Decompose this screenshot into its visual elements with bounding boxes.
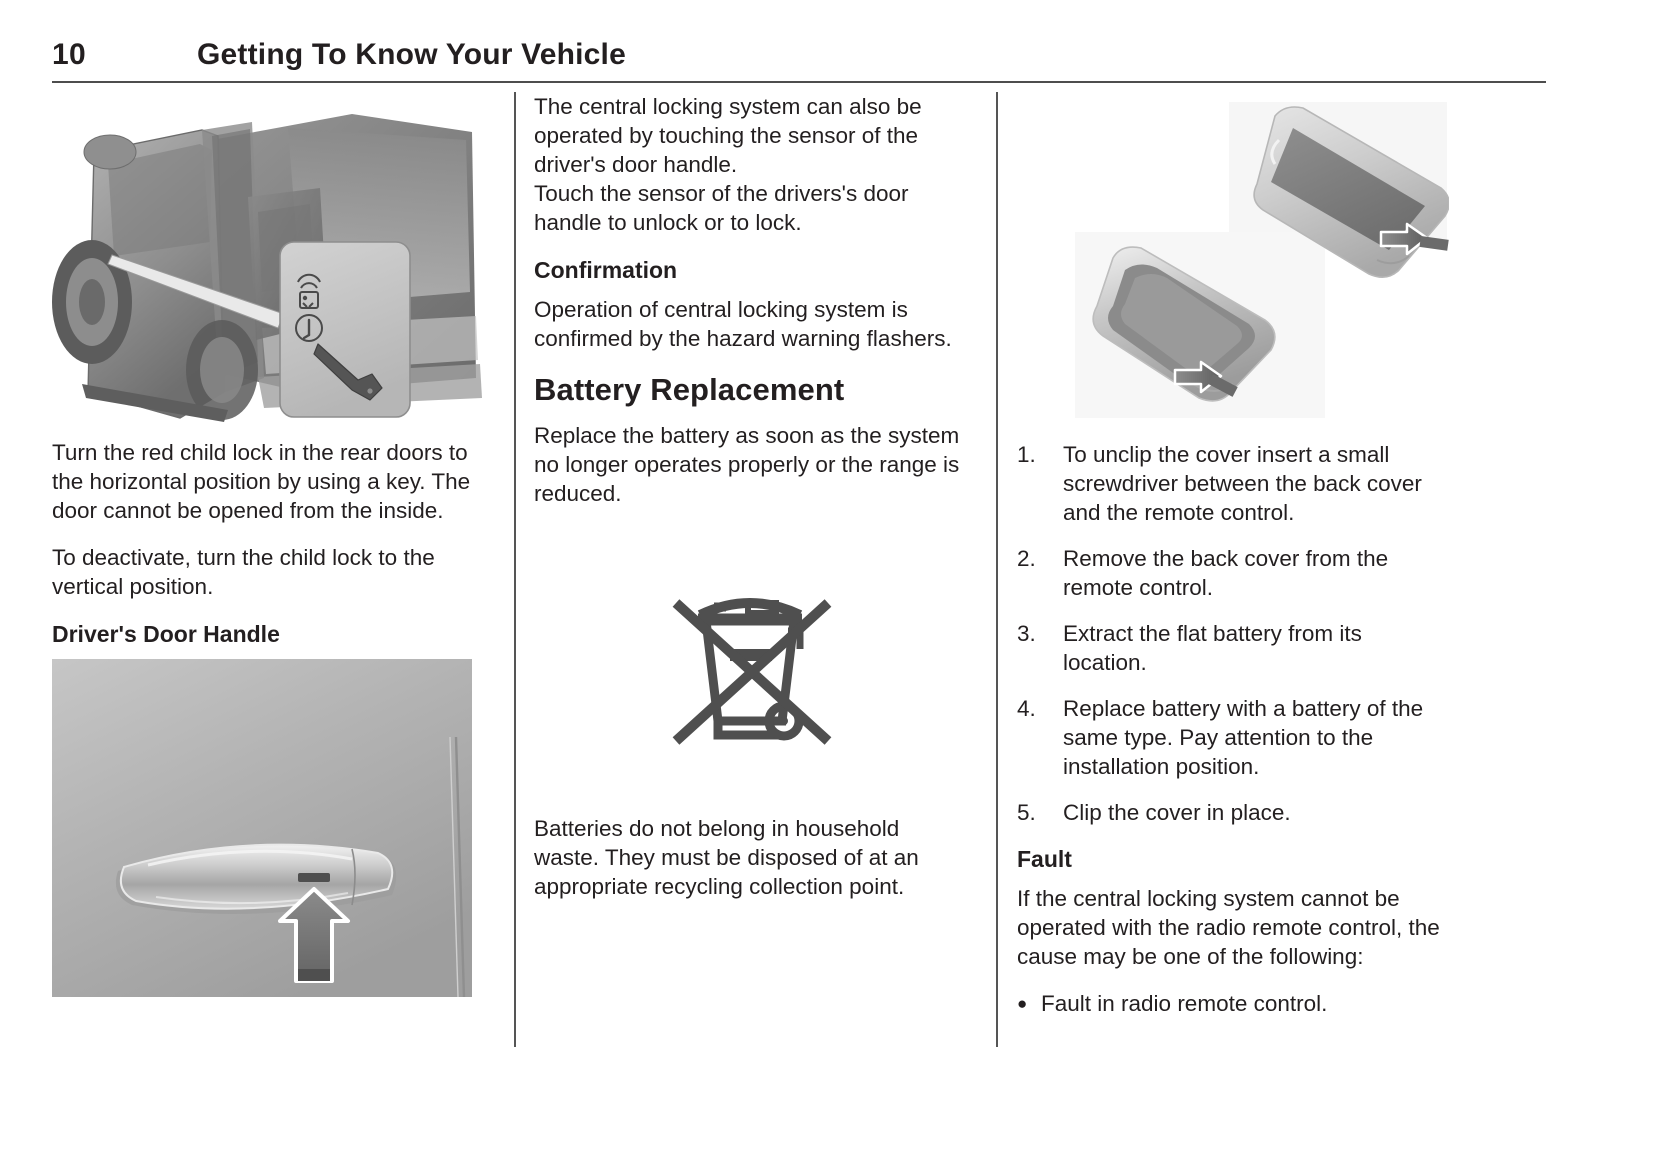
step-text: Remove the back cover from the remote co…	[1063, 546, 1388, 600]
confirmation-heading: Confirmation	[534, 255, 966, 285]
step-text: Extract the flat battery from its locati…	[1063, 621, 1362, 675]
list-item: 2. Remove the back cover from the remote…	[1017, 544, 1449, 602]
confirmation-paragraph: Operation of central locking system is c…	[534, 295, 966, 353]
central-locking-paragraph-2: Touch the sensor of the drivers's door h…	[534, 179, 966, 237]
fault-heading: Fault	[1017, 844, 1449, 874]
step-text: Clip the cover in place.	[1063, 800, 1291, 825]
page-header: 10 Getting To Know Your Vehicle	[52, 38, 1546, 82]
step-text: Replace battery with a battery of the sa…	[1063, 696, 1423, 779]
child-lock-paragraph-2: To deactivate, turn the child lock to th…	[52, 543, 484, 601]
battery-replacement-steps: 1. To unclip the cover insert a small sc…	[1017, 440, 1449, 827]
manual-page: { "header": { "page_number": "10", "chap…	[0, 0, 1653, 1165]
step-number: 1.	[1017, 440, 1051, 469]
step-number: 2.	[1017, 544, 1051, 573]
middle-column: The central locking system can also be o…	[534, 92, 966, 1052]
left-column: Turn the red child lock in the rear door…	[52, 92, 484, 1052]
remote-control-cover-removal-illustration	[1017, 92, 1449, 422]
crossed-out-wheelie-bin-icon	[534, 544, 966, 774]
bullet-marker: ●	[1017, 989, 1027, 1018]
right-column: 1. To unclip the cover insert a small sc…	[1017, 92, 1449, 1052]
step-number: 4.	[1017, 694, 1051, 723]
column-divider-right	[996, 92, 998, 1047]
central-locking-paragraph-1: The central locking system can also be o…	[534, 92, 966, 179]
rear-door-child-lock-illustration	[52, 92, 484, 426]
battery-replacement-paragraph: Replace the battery as soon as the syste…	[534, 421, 966, 508]
list-item: 4. Replace battery with a battery of the…	[1017, 694, 1449, 781]
battery-disposal-paragraph: Batteries do not belong in household was…	[534, 814, 966, 901]
battery-replacement-heading: Battery Replacement	[534, 371, 966, 409]
column-divider-left	[514, 92, 516, 1047]
header-rule	[52, 81, 1546, 83]
drivers-door-handle-illustration	[52, 659, 472, 997]
fault-bullet-list: ● Fault in radio remote control.	[1017, 989, 1449, 1018]
child-lock-callout-inset	[280, 242, 410, 417]
fault-intro-paragraph: If the central locking system cannot be …	[1017, 884, 1449, 971]
step-text: To unclip the cover insert a small screw…	[1063, 442, 1422, 525]
list-item: 1. To unclip the cover insert a small sc…	[1017, 440, 1449, 527]
child-lock-paragraph-1: Turn the red child lock in the rear door…	[52, 438, 484, 525]
chapter-title: Getting To Know Your Vehicle	[197, 38, 626, 72]
list-item: 5. Clip the cover in place.	[1017, 798, 1449, 827]
door-handle-sensor-slot	[298, 873, 330, 882]
key-fob-figure-svg	[1017, 92, 1449, 422]
three-column-layout: Turn the red child lock in the rear door…	[52, 92, 1546, 1052]
child-lock-figure-svg	[52, 92, 484, 426]
step-number: 5.	[1017, 798, 1051, 827]
drivers-door-handle-heading: Driver's Door Handle	[52, 619, 484, 649]
list-item: ● Fault in radio remote control.	[1017, 989, 1449, 1018]
step-number: 3.	[1017, 619, 1051, 648]
weee-symbol-svg	[660, 569, 840, 749]
door-handle-figure-svg	[52, 659, 472, 997]
list-item: 3. Extract the flat battery from its loc…	[1017, 619, 1449, 677]
bullet-text: Fault in radio remote control.	[1041, 991, 1327, 1016]
page-number: 10	[52, 38, 86, 72]
